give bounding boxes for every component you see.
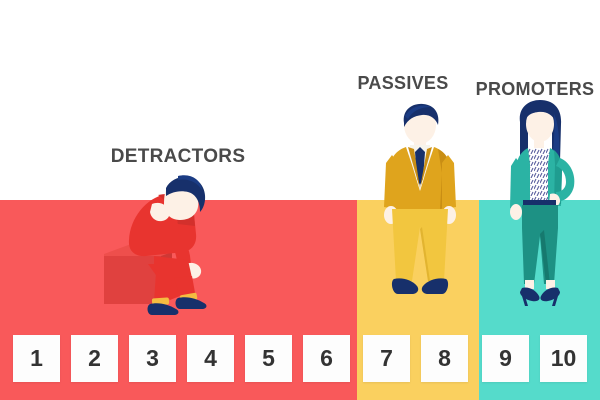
- score-box-10[interactable]: 10: [540, 335, 587, 382]
- score-box-label: 10: [551, 345, 577, 372]
- score-box-3[interactable]: 3: [129, 335, 176, 382]
- score-box-5[interactable]: 5: [245, 335, 292, 382]
- label-passives: PASSIVES: [357, 73, 448, 94]
- score-box-1[interactable]: 1: [13, 335, 60, 382]
- score-scale: 12345678910: [0, 335, 600, 382]
- score-box-2[interactable]: 2: [71, 335, 118, 382]
- score-box-label: 4: [204, 345, 217, 372]
- score-box-9[interactable]: 9: [482, 335, 529, 382]
- promoter-figure-illustration: [492, 100, 588, 312]
- label-promoters: PROMOTERS: [476, 79, 595, 100]
- detractor-figure-illustration: [96, 168, 236, 316]
- score-box-label: 7: [380, 345, 393, 372]
- score-box-6[interactable]: 6: [303, 335, 350, 382]
- score-box-label: 9: [499, 345, 512, 372]
- score-box-label: 2: [88, 345, 101, 372]
- score-box-4[interactable]: 4: [187, 335, 234, 382]
- label-detractors: DETRACTORS: [111, 146, 246, 168]
- score-box-label: 1: [30, 345, 43, 372]
- score-box-7[interactable]: 7: [363, 335, 410, 382]
- passive-figure-illustration: [372, 103, 468, 313]
- score-box-8[interactable]: 8: [421, 335, 468, 382]
- score-box-label: 8: [438, 345, 451, 372]
- nps-infographic: DETRACTORS PASSIVES PROMOTERS 1234567891…: [0, 0, 600, 400]
- score-box-label: 5: [262, 345, 275, 372]
- score-box-label: 6: [320, 345, 333, 372]
- score-box-label: 3: [146, 345, 159, 372]
